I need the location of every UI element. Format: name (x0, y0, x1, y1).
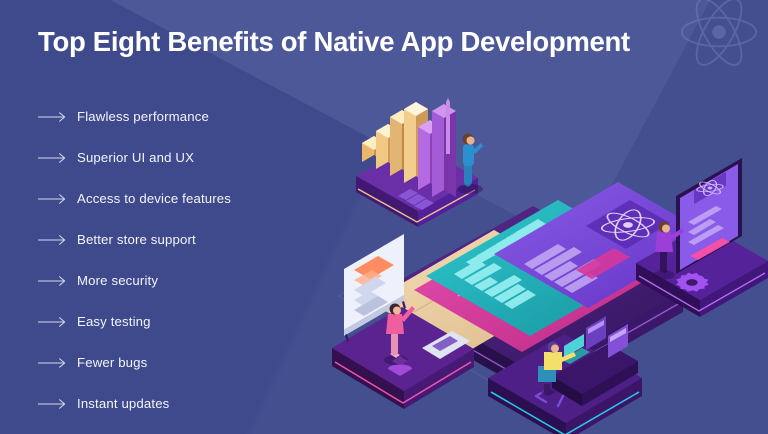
arrow-right-icon (38, 316, 68, 328)
benefit-label: Access to device features (77, 191, 231, 206)
list-item: Fewer bugs (38, 342, 328, 383)
list-item: More security (38, 260, 328, 301)
benefit-label: Superior UI and UX (77, 150, 194, 165)
list-item: Access to device features (38, 178, 328, 219)
benefit-label: Fewer bugs (77, 355, 147, 370)
benefit-label: Flawless performance (77, 109, 209, 124)
arrow-right-icon (38, 357, 68, 369)
benefit-label: Instant updates (77, 396, 169, 411)
arrow-right-icon (38, 152, 68, 164)
arrow-right-icon (38, 234, 68, 246)
benefit-label: More security (77, 273, 158, 288)
analytics-platform (356, 98, 483, 227)
arrow-right-icon (38, 111, 68, 123)
benefit-label: Easy testing (77, 314, 151, 329)
arrow-right-icon (38, 275, 68, 287)
isometric-illustration (318, 58, 768, 434)
arrow-right-icon (38, 398, 68, 410)
list-item: Better store support (38, 219, 328, 260)
infographic-canvas: Top Eight Benefits of Native App Develop… (0, 0, 768, 434)
benefit-label: Better store support (77, 232, 196, 247)
benefits-list: Flawless performance Superior UI and UX … (38, 96, 328, 424)
list-item: Instant updates (38, 383, 328, 424)
list-item: Flawless performance (38, 96, 328, 137)
page-title: Top Eight Benefits of Native App Develop… (38, 26, 630, 58)
list-item: Superior UI and UX (38, 137, 328, 178)
list-item: Easy testing (38, 301, 328, 342)
arrow-right-icon (38, 193, 68, 205)
